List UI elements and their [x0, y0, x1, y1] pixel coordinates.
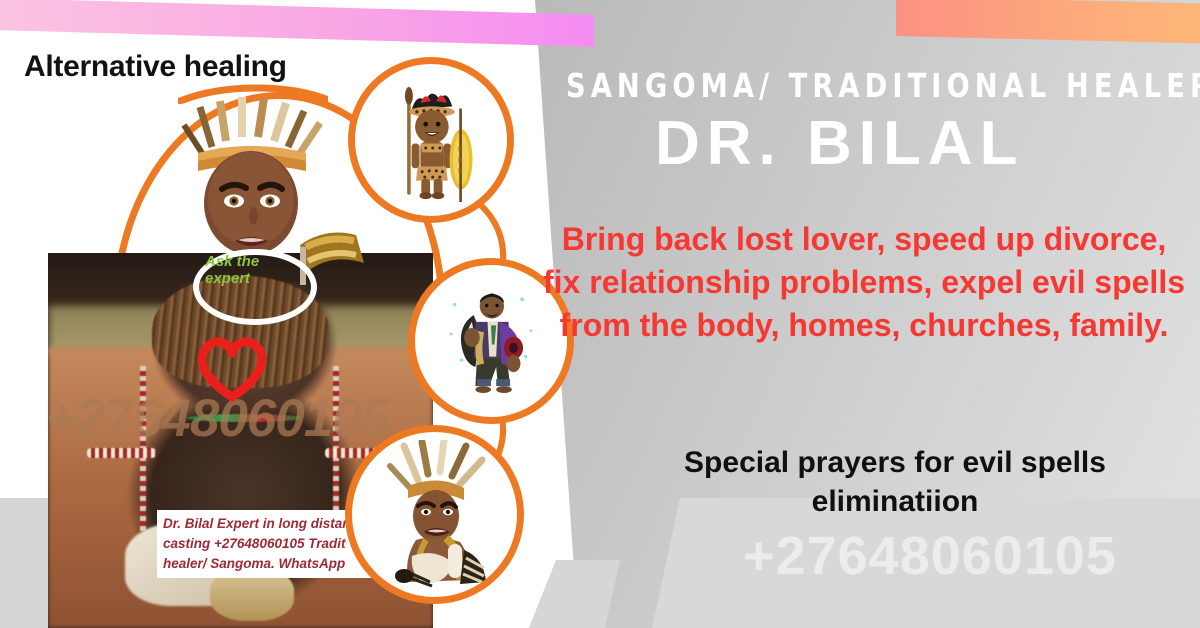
ask-the-expert-label: Ask the expert: [205, 253, 301, 288]
svg-text:▨: ▨: [458, 157, 463, 163]
crouching-healer-icon: [360, 440, 510, 590]
svg-text:▨: ▨: [458, 147, 463, 153]
underline-swoosh-icon: [178, 82, 328, 104]
caption-line-3: healer/ Sangoma. WhatsApp: [163, 554, 382, 574]
top-pink-bar: [0, 0, 594, 47]
badge-zulu-warrior-cartoon[interactable]: ▨▨▨: [348, 57, 514, 223]
panel-watermark-phone: +27648060105: [660, 525, 1200, 587]
svg-text:▨: ▨: [458, 168, 463, 174]
poster-canvas: Alternative healing: [0, 0, 1200, 628]
page-title: Alternative healing: [24, 50, 287, 84]
eyebrow-title: SANGOMA/ TRADITIONAL HEALER: [566, 66, 1136, 105]
top-orange-bar: [896, 0, 1200, 44]
heart-icon: [193, 333, 271, 403]
healer-name: DR. BILAL: [655, 108, 1025, 179]
zulu-warrior-cartoon-icon: ▨▨▨: [378, 78, 484, 202]
special-prayers-text: Special prayers for evil spells eliminat…: [600, 443, 1190, 521]
services-text: Bring back lost lover, speed up divorce,…: [540, 218, 1188, 347]
traditional-diviner-icon: [439, 280, 543, 402]
badge-crouching-healer[interactable]: [345, 425, 524, 604]
